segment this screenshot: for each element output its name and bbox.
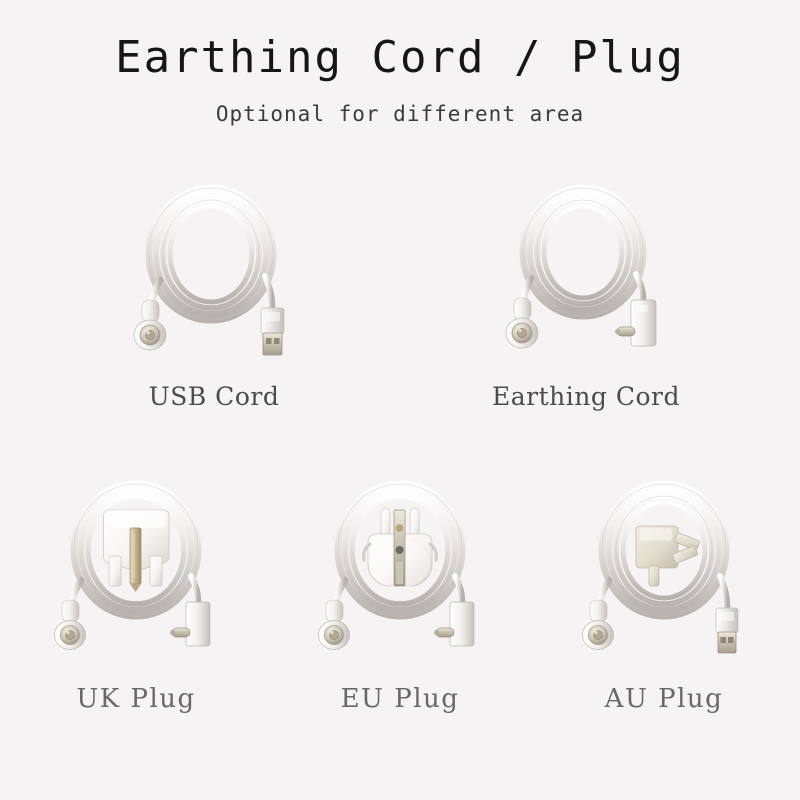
product-row-top: USB Cord	[0, 172, 800, 411]
snap-stud-connector	[319, 600, 350, 650]
eu-plug-adapter	[364, 508, 437, 588]
earthing-cord-label: Earthing Cord	[492, 382, 680, 411]
snap-stud-connector	[55, 600, 86, 650]
usb-cord-image	[99, 172, 329, 372]
uk-plug-illustration	[20, 472, 252, 670]
au-plug-adapter	[636, 526, 700, 586]
uk-plug-label: UK Plug	[76, 684, 195, 714]
page-subtitle: Optional for different area	[0, 102, 800, 126]
snap-stud-connector	[134, 300, 166, 350]
usb-a-connector	[716, 608, 738, 653]
uk-plug-image	[20, 472, 252, 670]
usb-cord-label: USB Cord	[149, 382, 280, 411]
au-plug-label: AU Plug	[605, 684, 724, 714]
product-au-plug[interactable]: AU Plug	[544, 472, 784, 714]
snap-stud-connector	[506, 298, 538, 348]
product-row-bottom: UK Plug	[0, 472, 800, 714]
right-angle-pin-connector	[434, 602, 474, 646]
au-plug-illustration	[548, 472, 780, 670]
uk-plug-adapter	[104, 510, 169, 592]
au-plug-image	[548, 472, 780, 670]
product-infographic: Earthing Cord / Plug Optional for differ…	[0, 0, 800, 800]
snap-stud-connector	[583, 600, 614, 650]
earthing-cord-illustration	[471, 172, 701, 372]
product-uk-plug[interactable]: UK Plug	[16, 472, 256, 714]
product-eu-plug[interactable]: EU Plug	[280, 472, 520, 714]
earthing-cord-image	[471, 172, 701, 372]
eu-plug-image	[284, 472, 516, 670]
header: Earthing Cord / Plug Optional for differ…	[0, 0, 800, 126]
usb-a-connector	[261, 308, 284, 355]
usb-cord-illustration	[99, 172, 329, 372]
right-angle-pin-connector	[170, 602, 210, 646]
eu-plug-illustration	[284, 472, 516, 670]
page-title: Earthing Cord / Plug	[0, 34, 800, 82]
eu-plug-label: EU Plug	[341, 684, 460, 714]
product-earthing-cord[interactable]: Earthing Cord	[468, 172, 704, 411]
right-angle-pin-connector	[615, 300, 656, 346]
product-usb-cord[interactable]: USB Cord	[96, 172, 332, 411]
